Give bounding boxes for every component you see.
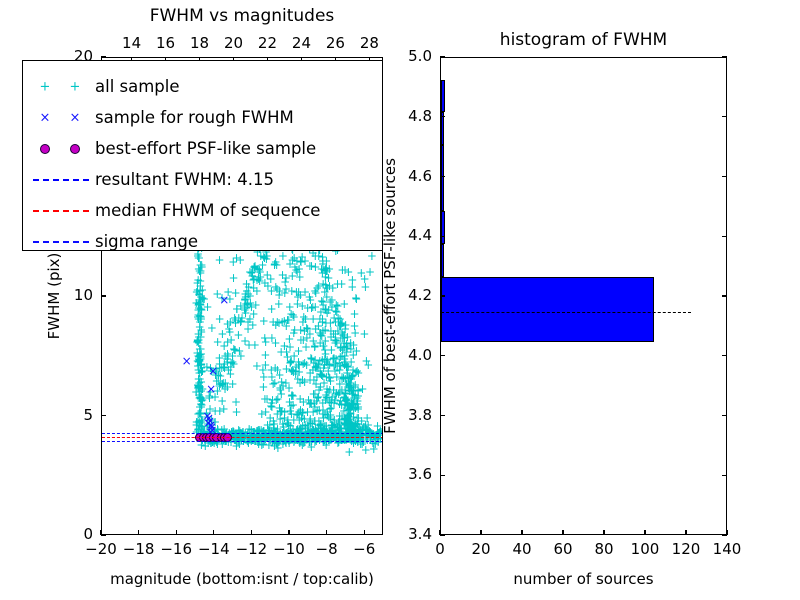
- scatter-point-all: +: [260, 393, 270, 405]
- scatter-point-all: +: [315, 327, 325, 339]
- scatter-point-all: +: [351, 292, 361, 304]
- right-yticklabel: 4.2: [408, 288, 432, 303]
- scatter-point-all: +: [342, 378, 352, 390]
- left-top-xticklabel: 22: [258, 36, 277, 51]
- scatter-point-all: +: [265, 428, 275, 440]
- scatter-point-all: +: [305, 398, 315, 410]
- right-xticklabel: 40: [512, 542, 531, 557]
- right-ytick-mirror: [722, 475, 727, 476]
- scatter-point-all: +: [329, 312, 339, 324]
- legend-entry-label: sigma range: [95, 234, 198, 251]
- legend-entry: ××sample for rough FWHM: [33, 110, 294, 127]
- left-xticklabel: −10: [273, 542, 305, 557]
- right-yticklabel: 3.8: [408, 408, 432, 423]
- scatter-point-all: +: [342, 433, 352, 445]
- scatter-point-all: +: [330, 394, 340, 406]
- histogram-bar: [441, 277, 654, 343]
- left-x-axis-label: magnitude (bottom:isnt / top:calib): [110, 572, 374, 587]
- scatter-point-all: +: [315, 381, 325, 393]
- left-yticklabel: 0: [83, 527, 93, 542]
- right-ytick: [440, 116, 445, 117]
- right-ytick-mirror: [722, 355, 727, 356]
- legend-entry: median FHWM of sequence: [33, 203, 320, 220]
- left-y-axis-label: FWHM (pix): [47, 253, 62, 340]
- legend-entry-label: sample for rough FWHM: [95, 110, 294, 127]
- scatter-point-all: +: [276, 388, 286, 400]
- scatter-point-all: +: [215, 254, 225, 266]
- left-ytick: [101, 415, 106, 416]
- right-ytick-mirror: [722, 295, 727, 296]
- scatter-point-all: +: [299, 311, 309, 323]
- right-yticklabel: 4.4: [408, 228, 432, 243]
- scatter-point-all: +: [259, 315, 269, 327]
- right-ytick: [440, 355, 445, 356]
- histogram-bar-layer: [441, 58, 726, 534]
- histogram-annotation-line: [441, 312, 691, 313]
- right-xticklabel: 100: [631, 542, 660, 557]
- scatter-point-all: +: [283, 314, 293, 326]
- scatter-point-all: +: [195, 304, 205, 316]
- left-xtick: [138, 530, 139, 535]
- scatter-point-all: +: [272, 283, 282, 295]
- right-xticklabel: 0: [435, 542, 445, 557]
- dashdot-line-icon: [33, 234, 95, 250]
- scatter-point-all: +: [284, 432, 294, 444]
- histogram-bar: [441, 211, 445, 244]
- scatter-point-rough: ×: [219, 294, 229, 306]
- scatter-point-all: +: [357, 383, 367, 395]
- left-xticklabel: −16: [160, 542, 192, 557]
- scatter-point-all: +: [214, 352, 224, 364]
- scatter-point-all: +: [258, 364, 268, 376]
- right-xtick: [521, 530, 522, 535]
- histogram-bar: [441, 244, 444, 277]
- scatter-point-all: +: [236, 350, 246, 362]
- left-yticklabel: 5: [83, 408, 93, 423]
- scatter-point-all: +: [257, 408, 267, 420]
- right-xticklabel: 20: [471, 542, 490, 557]
- scatter-point-all: +: [320, 271, 330, 283]
- left-xtick: [251, 530, 252, 535]
- scatter-point-all: +: [248, 319, 258, 331]
- right-ytick-mirror: [722, 176, 727, 177]
- left-xticklabel: −14: [198, 542, 230, 557]
- left-ytick: [101, 295, 106, 296]
- left-plot-title: FWHM vs magnitudes: [150, 8, 335, 25]
- right-ytick-mirror: [722, 56, 727, 57]
- right-yticklabel: 3.4: [408, 527, 432, 542]
- left-xtick: [213, 530, 214, 535]
- scatter-point-all: +: [342, 331, 352, 343]
- legend-box: ++all sample××sample for rough FWHMbest-…: [22, 60, 383, 251]
- scatter-point-all: +: [274, 298, 284, 310]
- left-top-xticklabel: 20: [224, 36, 243, 51]
- right-xtick: [685, 530, 686, 535]
- scatter-point-all: +: [252, 285, 262, 297]
- left-xticklabel: −6: [353, 542, 375, 557]
- scatter-point-all: +: [367, 250, 377, 262]
- right-x-axis-label: number of sources: [513, 572, 653, 587]
- scatter-point-all: +: [292, 409, 302, 421]
- right-yticklabel: 4.8: [408, 109, 432, 124]
- scatter-point-all: +: [260, 349, 270, 361]
- legend-entry: resultant FWHM: 4.15: [33, 172, 274, 189]
- scatter-point-all: +: [207, 322, 217, 334]
- right-yticklabel: 4.0: [408, 348, 432, 363]
- plus-marker-icon: ++: [33, 79, 95, 95]
- scatter-point-all: +: [316, 420, 326, 432]
- scatter-point-all: +: [363, 419, 373, 431]
- right-ytick: [440, 295, 445, 296]
- scatter-point-all: +: [331, 335, 341, 347]
- histogram-bar: [441, 80, 445, 113]
- scatter-point-all: +: [317, 295, 327, 307]
- scatter-point-all: +: [218, 379, 228, 391]
- right-ytick-mirror: [722, 236, 727, 237]
- right-yticklabel: 5.0: [408, 49, 432, 64]
- right-ytick: [440, 475, 445, 476]
- right-xticklabel: 140: [713, 542, 742, 557]
- scatter-point-all: +: [281, 283, 291, 295]
- scatter-point-all: +: [219, 403, 229, 415]
- right-ytick-mirror: [722, 415, 727, 416]
- left-xtick: [364, 530, 365, 535]
- right-ytick: [440, 236, 445, 237]
- scatter-point-rough: ×: [182, 355, 192, 367]
- right-xtick: [480, 530, 481, 535]
- scatter-point-all: +: [224, 323, 234, 335]
- left-ytick: [101, 534, 106, 535]
- right-ytick: [440, 176, 445, 177]
- scatter-point-all: +: [248, 266, 258, 278]
- left-annotation-line-1: [102, 437, 382, 438]
- left-xtick: [288, 530, 289, 535]
- right-plot-title: histogram of FWHM: [500, 32, 667, 49]
- scatter-point-all: +: [250, 339, 260, 351]
- scatter-point-all: +: [300, 376, 310, 388]
- scatter-point-all: +: [346, 408, 356, 420]
- left-xtick: [326, 530, 327, 535]
- circle-marker-icon: [33, 141, 95, 157]
- left-xticklabel: −8: [316, 542, 338, 557]
- scatter-point-all: +: [305, 415, 315, 427]
- scatter-point-all: +: [283, 417, 293, 429]
- left-xticklabel: −12: [236, 542, 268, 557]
- legend-entry: sigma range: [33, 234, 198, 251]
- left-top-xticklabel: 28: [360, 36, 379, 51]
- right-xtick: [644, 530, 645, 535]
- histogram-bar: [441, 145, 444, 211]
- dashed-line-icon: [33, 203, 95, 219]
- left-top-xticklabel: 26: [326, 36, 345, 51]
- scatter-point-all: +: [285, 357, 295, 369]
- legend-entry-label: median FHWM of sequence: [95, 203, 320, 220]
- scatter-point-rough: ×: [208, 365, 218, 377]
- scatter-point-all: +: [234, 438, 244, 450]
- scatter-point-all: +: [271, 256, 281, 268]
- scatter-point-all: +: [311, 361, 321, 373]
- right-y-axis-label: FWHM of best-effort PSF-like sources: [383, 158, 398, 434]
- scatter-point-all: +: [305, 328, 315, 340]
- right-yticklabel: 4.6: [408, 169, 432, 184]
- legend-entry-label: resultant FWHM: 4.15: [95, 172, 274, 189]
- scatter-point-all: +: [281, 346, 291, 358]
- left-annotation-line-2: [102, 433, 382, 434]
- right-ytick-mirror: [722, 116, 727, 117]
- left-top-xticklabel: 16: [156, 36, 175, 51]
- scatter-point-all: +: [341, 394, 351, 406]
- left-ytick: [101, 56, 106, 57]
- scatter-point-all: +: [233, 329, 243, 341]
- right-yticklabel: 3.6: [408, 467, 432, 482]
- right-ytick: [440, 534, 445, 535]
- figure-canvas: FWHM vs magnitudes +++++++++++++++++++++…: [0, 0, 800, 600]
- scatter-point-all: +: [339, 298, 349, 310]
- scatter-point-all: +: [304, 429, 314, 441]
- scatter-point-all: +: [359, 328, 369, 340]
- left-yticklabel: 10: [74, 288, 93, 303]
- scatter-point-all: +: [231, 396, 241, 408]
- left-xticklabel: −20: [85, 542, 117, 557]
- right-xticklabel: 80: [594, 542, 613, 557]
- scatter-point-all: +: [310, 340, 320, 352]
- histogram-plot-axes: [440, 57, 727, 535]
- scatter-point-all: +: [369, 443, 379, 455]
- right-xtick: [603, 530, 604, 535]
- scatter-point-all: +: [300, 255, 310, 267]
- right-ytick: [440, 415, 445, 416]
- scatter-point-all: +: [213, 336, 223, 348]
- scatter-point-all: +: [346, 343, 356, 355]
- right-xticklabel: 120: [672, 542, 701, 557]
- scatter-point-all: +: [229, 272, 239, 284]
- scatter-point-all: +: [261, 336, 271, 348]
- scatter-point-all: +: [287, 270, 297, 282]
- scatter-point-all: +: [226, 357, 236, 369]
- right-xticklabel: 60: [553, 542, 572, 557]
- scatter-point-all: +: [295, 393, 305, 405]
- legend-entry-label: best-effort PSF-like sample: [95, 141, 316, 158]
- right-xtick: [562, 530, 563, 535]
- scatter-point-all: +: [337, 278, 347, 290]
- legend-entry-label: all sample: [95, 79, 180, 96]
- x-marker-icon: ××: [33, 110, 95, 126]
- scatter-point-all: +: [270, 362, 280, 374]
- legend-entry: ++all sample: [33, 79, 180, 96]
- scatter-point-all: +: [231, 252, 241, 264]
- scatter-point-all: +: [361, 355, 371, 367]
- left-annotation-line-3: [102, 441, 382, 442]
- right-ytick: [440, 56, 445, 57]
- legend-entry: best-effort PSF-like sample: [33, 141, 316, 158]
- right-ytick-mirror: [722, 534, 727, 535]
- left-xtick: [176, 530, 177, 535]
- scatter-point-all: +: [223, 336, 233, 348]
- scatter-point-rough: ×: [206, 383, 216, 395]
- scatter-point-all: +: [320, 353, 330, 365]
- left-xticklabel: −18: [123, 542, 155, 557]
- left-top-xticklabel: 14: [122, 36, 141, 51]
- left-top-xticklabel: 18: [190, 36, 209, 51]
- dashed-line-icon: [33, 172, 95, 188]
- scatter-point-all: +: [365, 266, 375, 278]
- left-top-xticklabel: 24: [292, 36, 311, 51]
